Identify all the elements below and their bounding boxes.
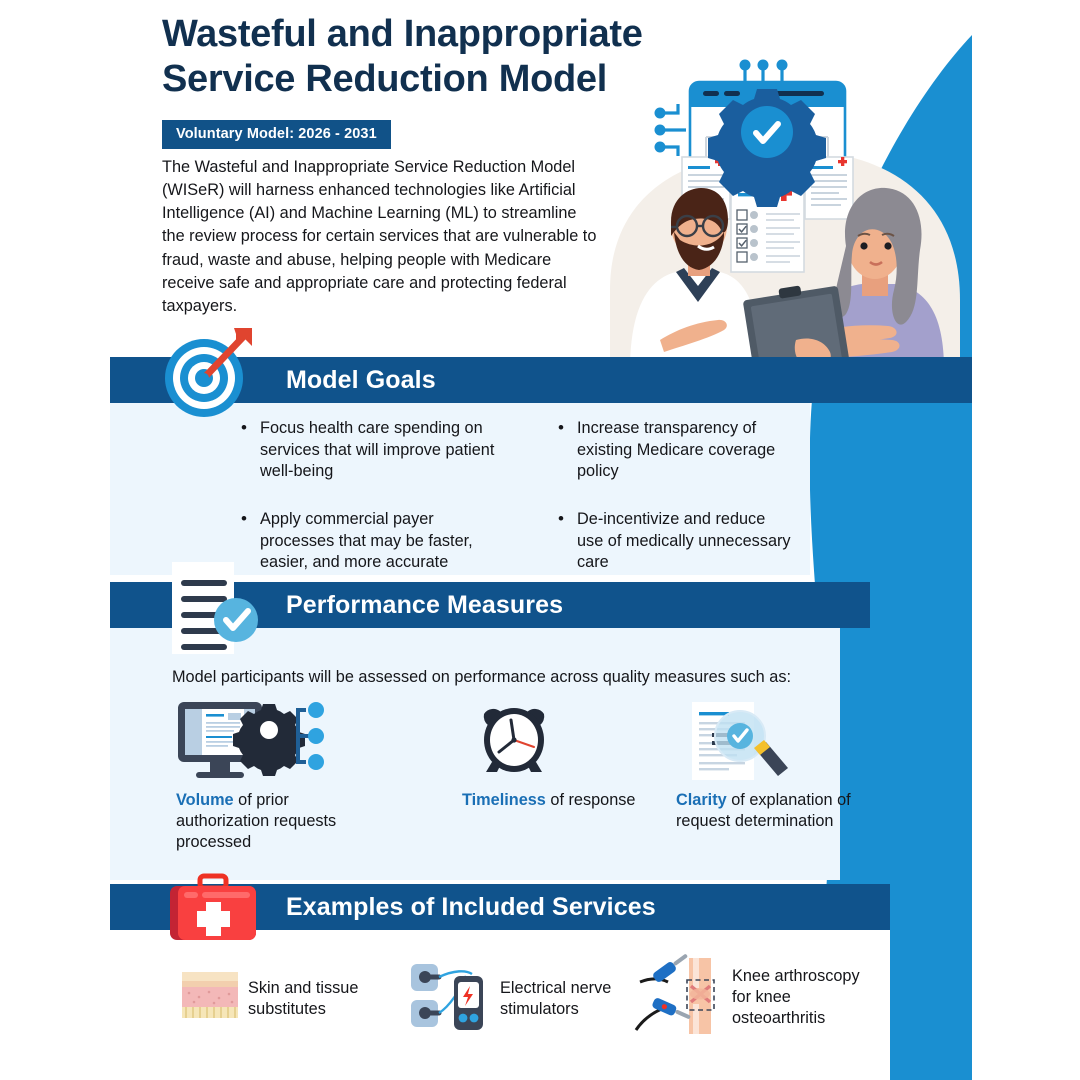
- model-goals-title: Model Goals: [286, 366, 436, 395]
- intro-paragraph: The Wasteful and Inappropriate Service R…: [162, 156, 602, 318]
- document-checkmark-icon: [168, 558, 272, 658]
- measure-text: of response: [546, 791, 636, 809]
- voluntary-model-badge: Voluntary Model: 2026 - 2031: [162, 120, 391, 149]
- goal-item: Focus health care spending on services t…: [238, 418, 508, 483]
- performance-measure-item: Clarity of explanation of request determ…: [676, 790, 856, 832]
- model-goals-right-column: Increase transparency of existing Medica…: [555, 418, 795, 600]
- target-arrow-icon: [156, 322, 256, 422]
- examples-title: Examples of Included Services: [286, 893, 656, 922]
- goal-item: Increase transparency of existing Medica…: [555, 418, 795, 483]
- measure-highlight: Timeliness: [462, 791, 546, 809]
- skin-tissue-layers-icon: [182, 972, 238, 1020]
- alarm-clock-icon: [474, 700, 554, 780]
- model-goals-left-column: Focus health care spending on services t…: [238, 418, 508, 600]
- goal-item: De-incentivize and reduce use of medical…: [555, 509, 795, 574]
- service-item: Knee arthroscopy for knee osteoarthritis: [732, 966, 882, 1030]
- service-item: Electrical nerve stimulators: [500, 978, 640, 1020]
- performance-measure-item: Volume of prior authorization requests p…: [176, 790, 376, 854]
- doctor-patient-ai-review-illustration: [600, 40, 980, 370]
- infographic-poster: Wasteful and Inappropriate Service Reduc…: [0, 0, 1080, 1080]
- document-magnifier-icon: [690, 700, 790, 782]
- measure-highlight: Clarity: [676, 791, 727, 809]
- performance-measure-item: Timeliness of response: [462, 790, 662, 811]
- goal-item: Apply commercial payer processes that ma…: [238, 509, 508, 574]
- measure-highlight: Volume: [176, 791, 234, 809]
- knee-arthroscopy-icon: [636, 958, 736, 1034]
- first-aid-kit-icon: [168, 876, 260, 942]
- monitor-gear-workflow-icon: [176, 700, 346, 780]
- nerve-stimulator-device-icon: [410, 960, 486, 1032]
- performance-measures-title: Performance Measures: [286, 591, 563, 620]
- service-item: Skin and tissue substitutes: [248, 978, 398, 1020]
- performance-measures-intro: Model participants will be assessed on p…: [172, 668, 791, 687]
